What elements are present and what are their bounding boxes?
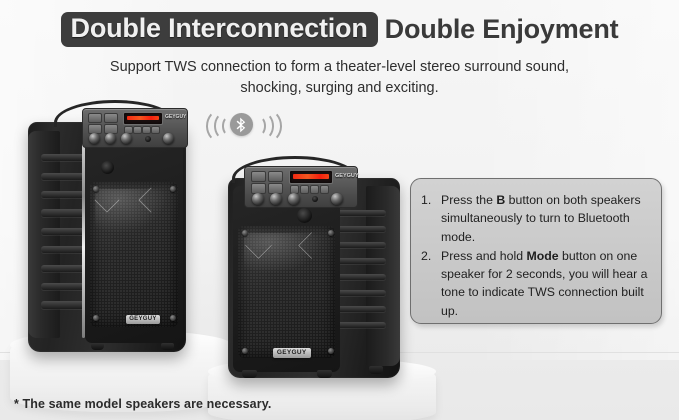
speaker-right-foot: [242, 370, 257, 378]
speaker-right-knob[interactable]: [288, 193, 300, 205]
speaker-right-foot: [317, 370, 332, 378]
speaker-left-knob[interactable]: [105, 133, 116, 144]
instruction-step: Press the B button on both speakers simu…: [421, 191, 649, 246]
speaker-left-input-jack[interactable]: [145, 136, 151, 142]
speaker-right-foot: [369, 366, 383, 374]
headline-highlight: Double Interconnection: [61, 12, 378, 47]
speaker-left-knob[interactable]: [121, 133, 132, 144]
instruction-step-1-pre: Press the: [441, 193, 496, 207]
speaker-left-panel-button[interactable]: [142, 126, 151, 134]
speaker-left-foot: [91, 343, 104, 350]
speaker-left-brand-badge: GEYGUY: [126, 315, 160, 324]
speaker-left-knob[interactable]: [89, 133, 100, 144]
speaker-left-knob[interactable]: [163, 133, 174, 144]
speaker-right-knob[interactable]: [252, 193, 264, 205]
speaker-left-panel-button[interactable]: [104, 113, 118, 123]
speaker-left: GEYGUY: [28, 122, 186, 352]
speaker-left-control-assembly: GEYGUY: [70, 96, 188, 148]
instruction-step-1-bold: B: [496, 193, 505, 207]
speaker-right-panel-button[interactable]: [251, 171, 266, 182]
speaker-right-panel-logo: GEYGUY: [335, 173, 359, 179]
speaker-right-led-display: [289, 170, 333, 184]
speaker-left-panel-logo: GEYGUY: [165, 114, 186, 120]
signal-wave-icon: [252, 116, 266, 136]
speaker-left-led-display: [123, 112, 163, 125]
speaker-right-knob[interactable]: [331, 193, 343, 205]
instruction-callout: Press the B button on both speakers simu…: [410, 178, 662, 324]
subtitle: Support TWS connection to form a theater…: [0, 57, 679, 99]
speaker-right-control-assembly: GEYGUY: [236, 152, 362, 208]
subtitle-line-1: Support TWS connection to form a theater…: [0, 57, 679, 78]
bluetooth-icon: [230, 113, 253, 136]
speaker-left-panel-button[interactable]: [88, 113, 102, 123]
speaker-right-brand-badge: GEYGUY: [273, 348, 311, 358]
speaker-right-knob[interactable]: [270, 193, 282, 205]
headline-plain: Double Enjoyment: [385, 15, 619, 44]
speaker-right-panel-button[interactable]: [310, 185, 319, 194]
speaker-right-screw: [328, 348, 334, 354]
instruction-step: Press and hold Mode button on one speake…: [421, 247, 649, 320]
instruction-step-2-bold: Mode: [526, 249, 558, 263]
speaker-right-screw: [242, 348, 248, 354]
speaker-right-screw: [242, 230, 248, 236]
instruction-step-2-pre: Press and hold: [441, 249, 526, 263]
speaker-right-screw: [328, 230, 334, 236]
speaker-left-panel-button[interactable]: [133, 126, 142, 134]
speaker-right-panel-button[interactable]: [300, 185, 309, 194]
instruction-list: Press the B button on both speakers simu…: [421, 191, 649, 320]
speaker-left-tweeter: [101, 161, 114, 174]
bluetooth-pairing-indicator: [200, 108, 282, 142]
speaker-right: GEYGUY: [228, 178, 400, 378]
speaker-left-control-panel[interactable]: GEYGUY: [82, 108, 188, 148]
speaker-left-panel-button[interactable]: [151, 126, 160, 134]
footnote: * The same model speakers are necessary.: [14, 397, 271, 411]
headline: Double InterconnectionDouble Enjoyment: [0, 12, 679, 47]
speaker-left-foot: [161, 343, 174, 350]
speaker-right-tweeter: [297, 208, 312, 223]
product-marketing-banner: Double InterconnectionDouble Enjoyment S…: [0, 0, 679, 420]
speaker-right-input-jack[interactable]: [312, 196, 318, 202]
speaker-right-control-panel[interactable]: GEYGUY: [244, 166, 358, 208]
speaker-left-screw: [93, 315, 99, 321]
speaker-right-panel-button[interactable]: [268, 171, 283, 182]
speaker-right-panel-button[interactable]: [320, 185, 329, 194]
